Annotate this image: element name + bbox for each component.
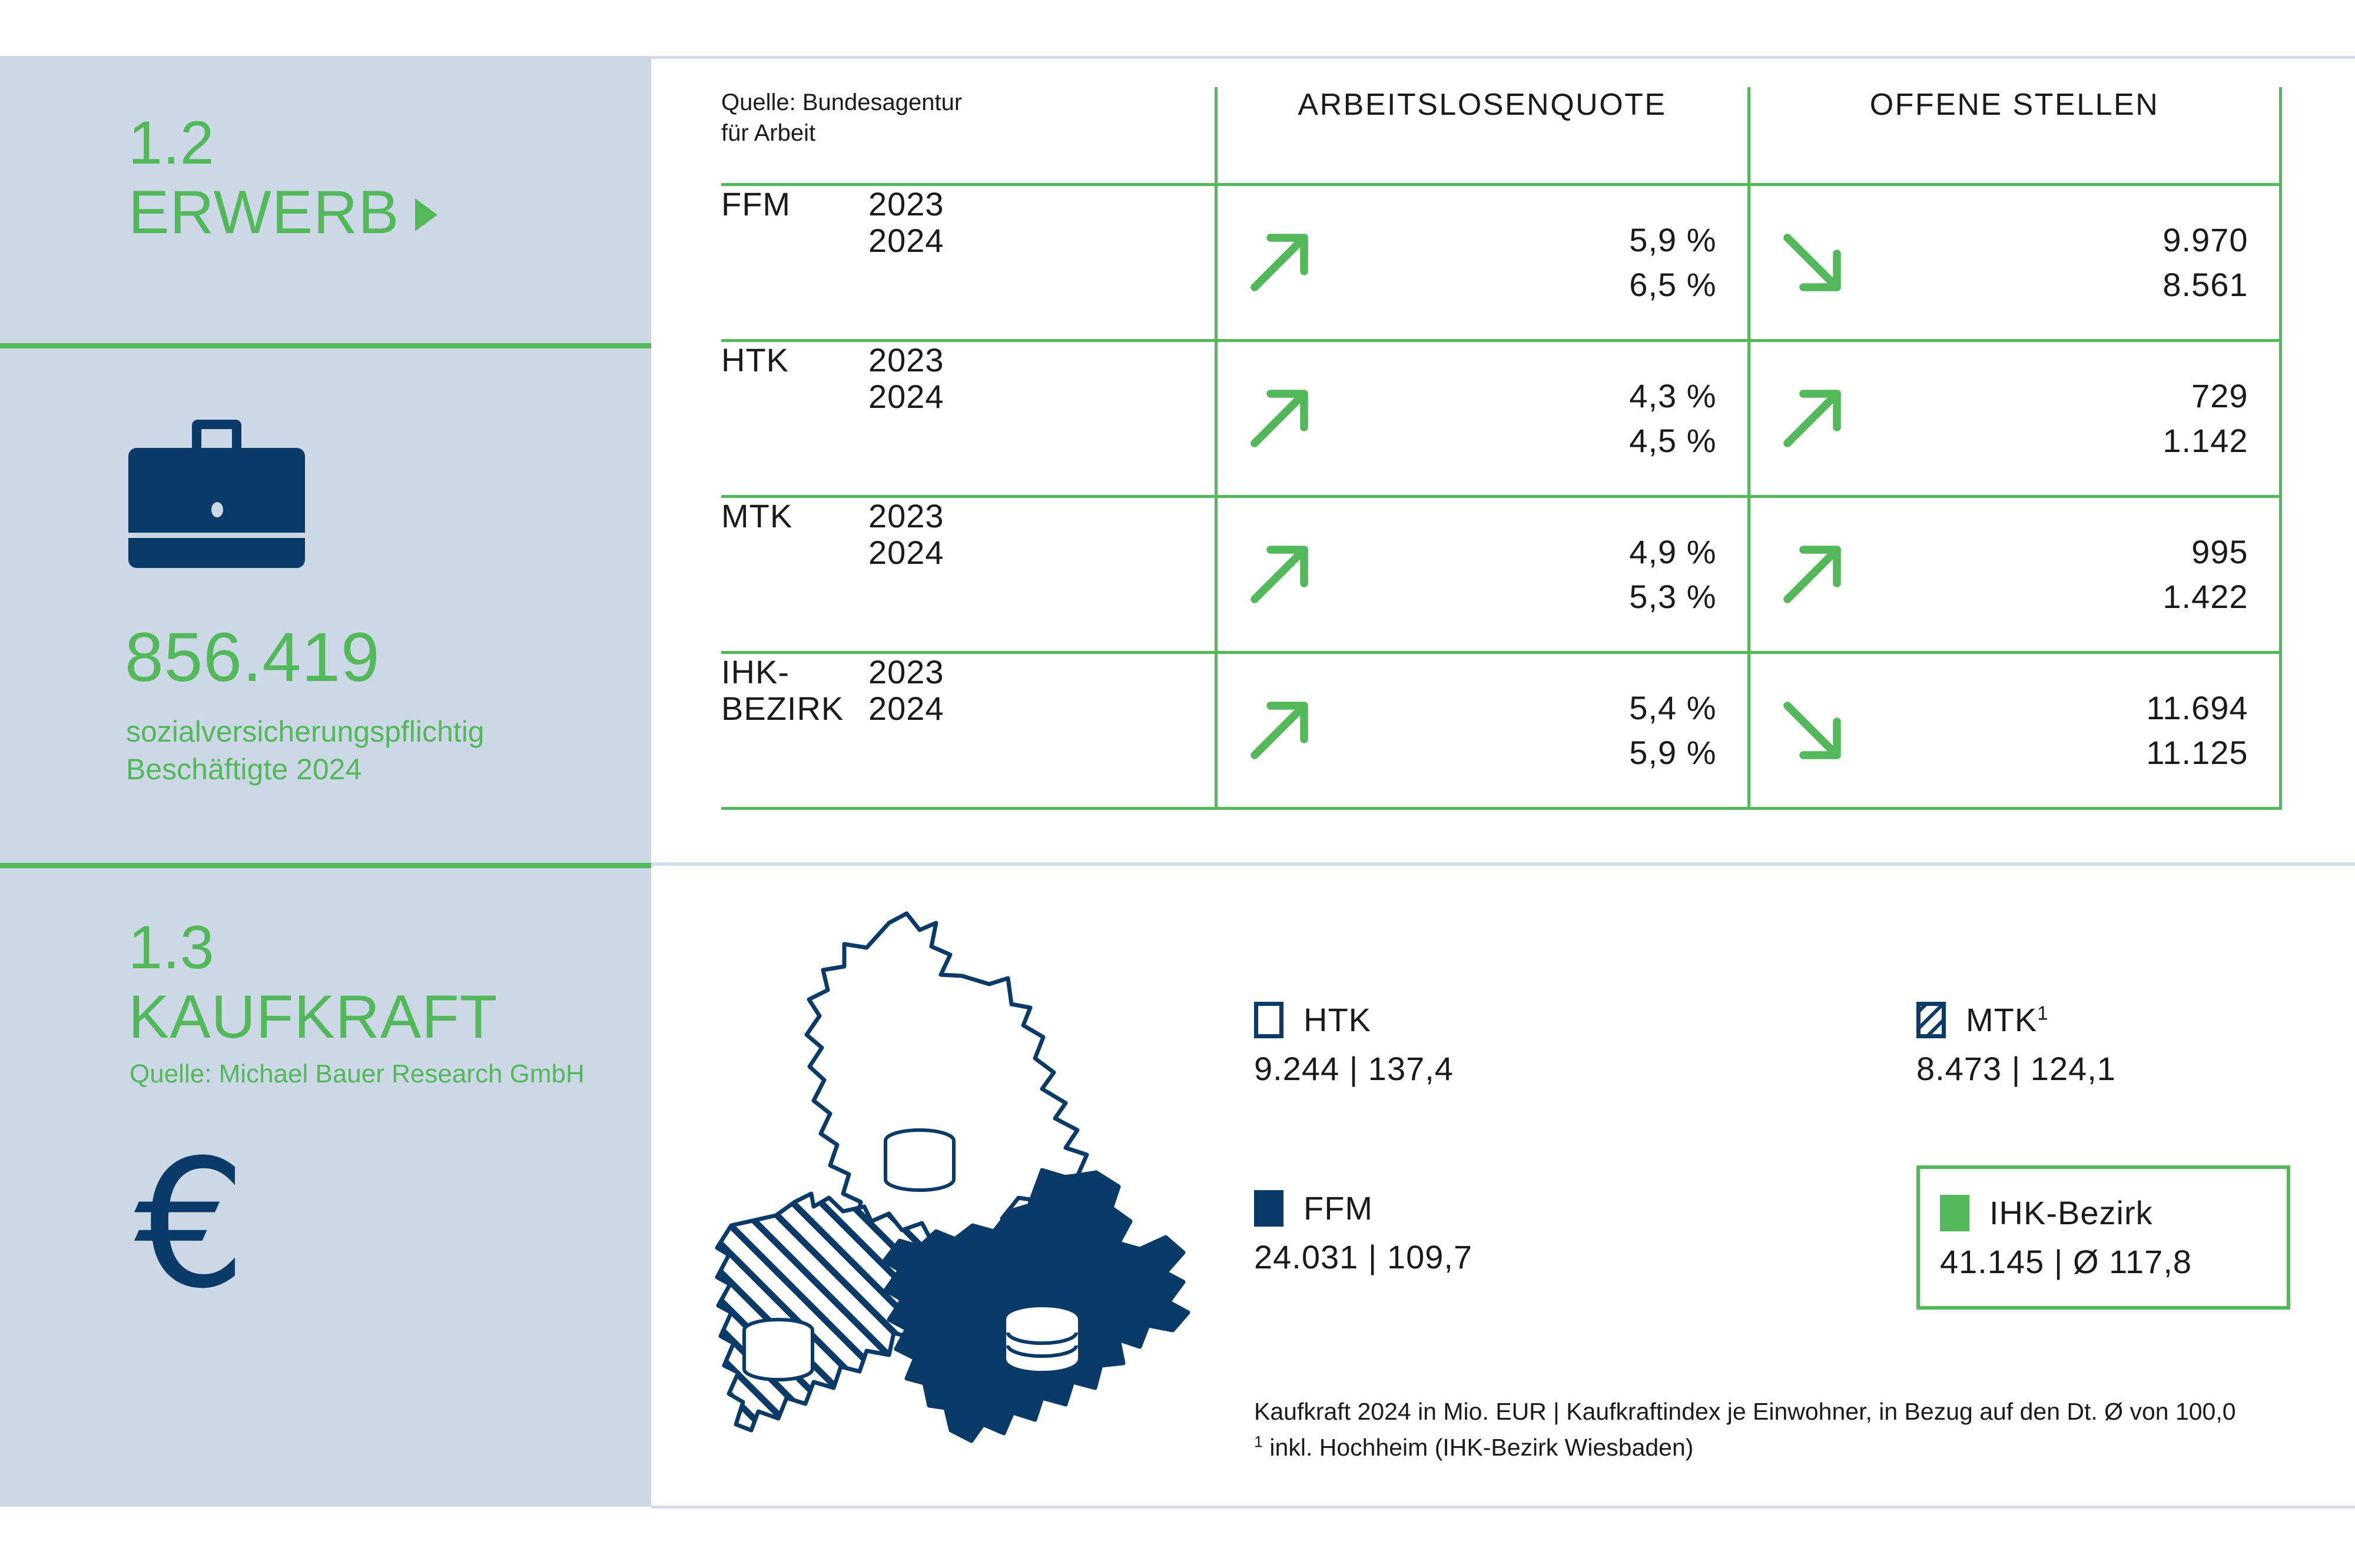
- section-erwerb-number: 1.2: [128, 112, 214, 174]
- arrow-up-icon: [1218, 218, 1341, 307]
- legend-item-mtk[interactable]: MTK1 8.473 | 124,1: [1916, 1001, 2116, 1088]
- section-erwerb-body: 856.419 sozialversicherungspflichtig Bes…: [0, 343, 651, 863]
- year-2: 2024: [868, 378, 1215, 416]
- employment-caption-line-1: sozialversicherungspflichtig: [126, 713, 644, 750]
- stellen-value-1: 11.694: [1874, 686, 2248, 730]
- rule-middle: [651, 862, 2355, 866]
- table-row[interactable]: HTK 2023 2024: [721, 340, 2280, 496]
- row-years: 2023 2024: [868, 340, 1216, 496]
- legend-label-mtk-footnote-marker: 1: [2037, 1002, 2048, 1024]
- row-stellen-cell: 9.970 8.561: [1749, 184, 2280, 340]
- quote-values: 4,3 % 4,5 %: [1341, 374, 1717, 463]
- row-quote-cell: 5,4 % 5,9 %: [1216, 652, 1749, 808]
- footnote-line-2: 1 inkl. Hochheim (IHK-Bezirk Wiesbaden): [1254, 1430, 2308, 1466]
- year-1: 2023: [868, 186, 1215, 223]
- section-kaufkraft-number: 1.3: [128, 917, 214, 978]
- quote-values: 5,9 % 6,5 %: [1341, 218, 1717, 307]
- footnote-line-2-text: inkl. Hochheim (IHK-Bezirk Wiesbaden): [1263, 1434, 1693, 1461]
- legend-label-ffm: FFM: [1303, 1189, 1373, 1227]
- stellen-values: 11.694 11.125: [1874, 686, 2248, 775]
- legend-values-ffm: 24.031 | 109,7: [1254, 1238, 1472, 1276]
- row-quote-cell: 4,3 % 4,5 %: [1216, 340, 1749, 496]
- coin-stack-icon-htk: [885, 1130, 954, 1190]
- stellen-value-2: 1.142: [1874, 418, 2248, 463]
- stellen-value-2: 1.422: [1874, 574, 2248, 619]
- row-region-name: MTK: [721, 496, 868, 652]
- section-erwerb-title-text: ERWERB: [128, 181, 400, 245]
- legend-item-htk[interactable]: HTK 9.244 | 137,4: [1254, 1001, 1454, 1088]
- euro-icon: €: [134, 1141, 247, 1308]
- row-stellen-cell: 11.694 11.125: [1749, 652, 2280, 808]
- section-erwerb-header[interactable]: 1.2 ERWERB: [0, 56, 651, 343]
- year-1: 2023: [868, 342, 1215, 379]
- triangle-right-icon[interactable]: [415, 198, 437, 231]
- stellen-value-1: 995: [1874, 530, 2248, 574]
- table-row[interactable]: MTK 2023 2024: [721, 496, 2280, 652]
- row-years: 2023 2024: [868, 496, 1216, 652]
- stellen-values: 9.970 8.561: [1874, 218, 2248, 307]
- arrow-down-icon: [1750, 686, 1874, 775]
- row-region-name: IHK- BEZIRK: [721, 652, 868, 808]
- quote-value-1: 4,3 %: [1341, 374, 1717, 418]
- employment-stat-value: 856.419: [125, 623, 380, 692]
- arrow-up-icon: [1218, 686, 1341, 775]
- legend-item-ffm[interactable]: FFM 24.031 | 109,7: [1254, 1189, 1472, 1276]
- legend-swatch-ffm: [1254, 1190, 1283, 1227]
- region-name-line-2: BEZIRK: [721, 690, 868, 727]
- legend-swatch-htk: [1254, 1002, 1283, 1038]
- legend-swatch-mtk: [1916, 1002, 1946, 1038]
- row-years: 2023 2024: [868, 652, 1216, 808]
- coin-stack-icon-mtk: [744, 1320, 812, 1380]
- section-erwerb-title[interactable]: ERWERB: [128, 181, 437, 245]
- legend-swatch-ihk-bezirk: [1940, 1195, 1969, 1231]
- arrow-up-icon: [1750, 530, 1874, 619]
- quote-value-1: 4,9 %: [1341, 530, 1717, 574]
- briefcase-icon: [128, 420, 305, 568]
- row-stellen-cell: 729 1.142: [1749, 340, 2280, 496]
- section-kaufkraft-title-text: KAUFKRAFT: [128, 985, 497, 1049]
- row-region-name: HTK: [721, 340, 868, 496]
- table-source-cell: Quelle: Bundesagentur für Arbeit: [721, 87, 1216, 184]
- employment-stat-caption: sozialversicherungspflichtig Beschäftigt…: [126, 713, 644, 788]
- row-quote-cell: 4,9 % 5,3 %: [1216, 496, 1749, 652]
- year-2: 2024: [868, 690, 1215, 727]
- section-kaufkraft-title: KAUFKRAFT: [128, 985, 497, 1049]
- quote-value-2: 5,9 %: [1341, 730, 1717, 775]
- row-stellen-cell: 995 1.422: [1749, 496, 2280, 652]
- quote-values: 5,4 % 5,9 %: [1341, 686, 1717, 775]
- legend-values-ihk-bezirk: 41.145 | Ø 117,8: [1940, 1243, 2192, 1281]
- arrow-up-icon: [1218, 530, 1341, 619]
- year-2: 2024: [868, 222, 1215, 260]
- stellen-value-2: 8.561: [1874, 263, 2248, 307]
- region-map-icon: [712, 901, 1230, 1489]
- table-header-row: Quelle: Bundesagentur für Arbeit ARBEITS…: [721, 87, 2280, 184]
- quote-value-2: 6,5 %: [1341, 263, 1717, 307]
- quote-value-2: 5,3 %: [1341, 574, 1717, 619]
- briefcase-split-line: [128, 533, 305, 538]
- sidebar: 1.2 ERWERB 856.419 sozialversicherungspf…: [0, 56, 651, 1507]
- footnote-marker: 1: [1254, 1433, 1263, 1450]
- employment-caption-line-2: Beschäftigte 2024: [126, 750, 644, 788]
- briefcase-body: [128, 448, 305, 568]
- rule-bottom: [651, 1506, 2355, 1509]
- briefcase-lock: [211, 502, 223, 517]
- legend-label-mtk: MTK1: [1966, 1001, 2049, 1039]
- quote-values: 4,9 % 5,3 %: [1341, 530, 1717, 619]
- map-footnote: Kaufkraft 2024 in Mio. EUR | Kaufkraftin…: [1254, 1394, 2308, 1465]
- stellen-value-1: 729: [1874, 374, 2248, 418]
- table-row[interactable]: IHK- BEZIRK 2023 2024: [721, 652, 2280, 808]
- year-2: 2024: [868, 534, 1215, 572]
- legend-label-htk: HTK: [1303, 1001, 1371, 1039]
- year-1: 2023: [868, 498, 1215, 535]
- rule-top: [651, 56, 2355, 59]
- table-row[interactable]: FFM 2023 2024: [721, 184, 2280, 340]
- quote-value-1: 5,9 %: [1341, 218, 1717, 263]
- legend-values-htk: 9.244 | 137,4: [1254, 1049, 1454, 1088]
- region-name-line-1: MTK: [721, 498, 868, 535]
- arrow-up-icon: [1218, 374, 1341, 463]
- map-legend: HTK 9.244 | 137,4 MTK1 8.473 | 124,1 FFM…: [1254, 1001, 2290, 1354]
- arrow-up-icon: [1750, 374, 1874, 463]
- region-name-line-1: HTK: [721, 342, 868, 379]
- year-1: 2023: [868, 654, 1215, 691]
- legend-item-ihk-bezirk[interactable]: IHK-Bezirk 41.145 | Ø 117,8: [1916, 1165, 2290, 1310]
- table-source-line-1: Quelle: Bundesagentur: [721, 87, 1215, 118]
- legend-label-ihk-bezirk: IHK-Bezirk: [1989, 1194, 2153, 1232]
- section-kaufkraft: 1.3 KAUFKRAFT Quelle: Michael Bauer Rese…: [0, 863, 651, 1507]
- stellen-values: 729 1.142: [1874, 374, 2248, 463]
- stellen-value-2: 11.125: [1874, 730, 2248, 775]
- arrow-down-icon: [1750, 218, 1874, 307]
- table-source-line-2: für Arbeit: [721, 118, 1215, 148]
- table-header-arbeitslosenquote: ARBEITSLOSENQUOTE: [1216, 87, 1749, 184]
- legend-label-mtk-text: MTK: [1966, 1001, 2037, 1038]
- region-name-line-1: FFM: [721, 186, 868, 223]
- stellen-values: 995 1.422: [1874, 530, 2248, 619]
- stellen-value-1: 9.970: [1874, 218, 2248, 263]
- employment-table: Quelle: Bundesagentur für Arbeit ARBEITS…: [721, 87, 2282, 810]
- table-header-offene-stellen: OFFENE STELLEN: [1749, 87, 2280, 184]
- region-name-line-1: IHK-: [721, 654, 868, 691]
- quote-value-2: 4,5 %: [1341, 418, 1717, 463]
- table-body: FFM 2023 2024: [721, 184, 2280, 808]
- row-years: 2023 2024: [868, 184, 1216, 340]
- infographic-page: 1.2 ERWERB 856.419 sozialversicherungspf…: [0, 0, 2355, 1568]
- row-quote-cell: 5,9 % 6,5 %: [1216, 184, 1749, 340]
- footnote-line-1: Kaufkraft 2024 in Mio. EUR | Kaufkraftin…: [1254, 1394, 2308, 1430]
- section-kaufkraft-source: Quelle: Michael Bauer Research GmbH: [130, 1058, 585, 1090]
- quote-value-1: 5,4 %: [1341, 686, 1717, 730]
- row-region-name: FFM: [721, 184, 868, 340]
- legend-values-mtk: 8.473 | 124,1: [1916, 1049, 2116, 1088]
